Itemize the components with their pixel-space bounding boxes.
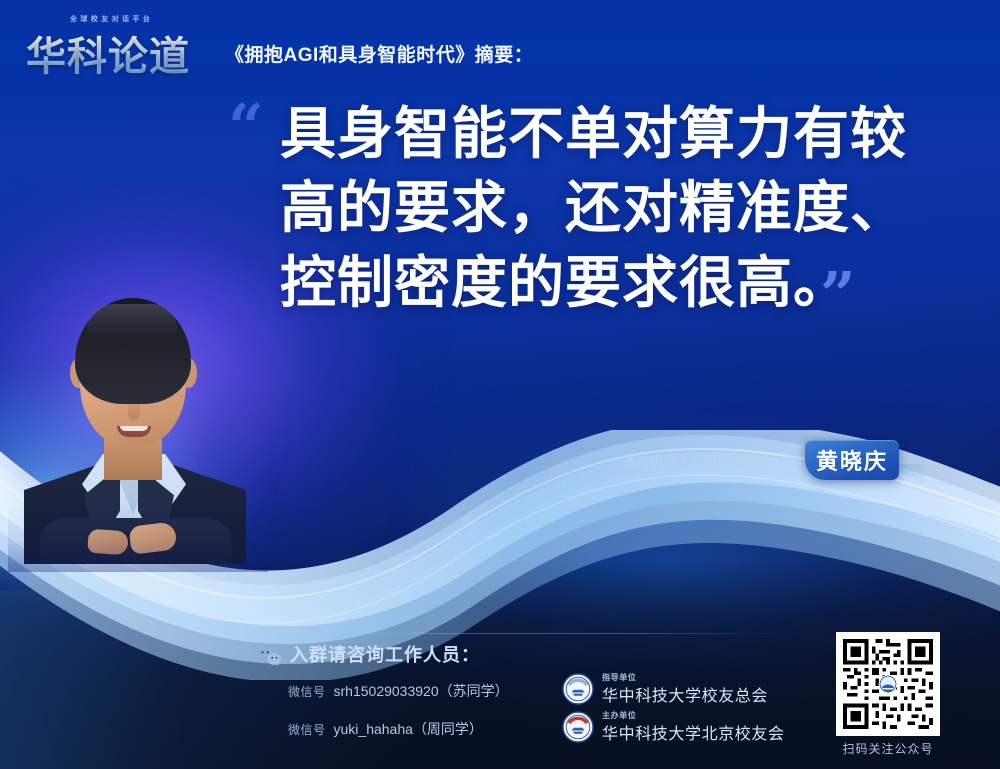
speaker-attribution: 达闼机器人公司董事长兼CEO 黄晓庆 <box>600 440 930 484</box>
wechat-value: yuki_hahaha（周同学） <box>334 721 483 737</box>
brand-logo-tagline: 全球校友对话平台 <box>70 14 153 24</box>
poster-header: 全球校友对话平台 华科论道 《拥抱AGI和具身智能时代》摘要： <box>0 0 1000 96</box>
brand-logo: 全球校友对话平台 华科论道 <box>26 14 214 76</box>
portrait-bottom-fade <box>8 502 268 572</box>
speaker-portrait <box>18 296 248 556</box>
wechat-icon <box>256 646 282 668</box>
wechat-label: 微信号 <box>288 723 326 737</box>
brand-logo-text: 华科论道 <box>26 24 190 82</box>
page-title: 《拥抱AGI和具身智能时代》摘要： <box>225 40 533 67</box>
wechat-value: srh15029033920（苏同学） <box>334 683 509 699</box>
university-seal-icon <box>562 673 594 705</box>
organization-row: 指导单位 华中科技大学校友总会 <box>562 673 792 707</box>
qr-caption: 扫码关注公众号 <box>828 740 948 757</box>
quote-line: 高的要求，还对精准度、 <box>280 172 950 246</box>
organization-row: 主办单位 华中科技大学北京校友会 <box>562 711 792 745</box>
organization-name: 华中科技大学校友总会 <box>602 682 768 706</box>
quote-line: 具身智能不单对算力有较 <box>280 98 950 172</box>
university-seal-icon <box>562 711 594 743</box>
organization-name: 华中科技大学北京校友会 <box>602 720 785 744</box>
wechat-contact-row: 微信号srh15029033920（苏同学） <box>288 681 509 701</box>
quote-close-mark: ” <box>820 264 856 326</box>
wechat-label: 微信号 <box>288 685 326 699</box>
quote-open-mark: “ <box>228 96 264 158</box>
qr-code-block[interactable]: 扫码关注公众号 <box>836 632 940 748</box>
footer-divider <box>286 633 782 634</box>
speaker-name-badge: 黄晓庆 <box>805 440 899 480</box>
portrait-mouth <box>117 426 151 437</box>
footer-heading: 入群请咨询工作人员： <box>290 641 480 667</box>
speaker-role: 达闼机器人公司董事长兼CEO <box>623 451 800 470</box>
speaker-name: 黄晓庆 <box>816 444 888 476</box>
portrait-teeth <box>120 426 148 431</box>
wechat-contact-row: 微信号yuki_hahaha（周同学） <box>288 719 483 739</box>
qr-code-image[interactable] <box>836 632 940 736</box>
poster-canvas: 全球校友对话平台 华科论道 《拥抱AGI和具身智能时代》摘要： “ 具身智能不单… <box>0 0 1000 769</box>
